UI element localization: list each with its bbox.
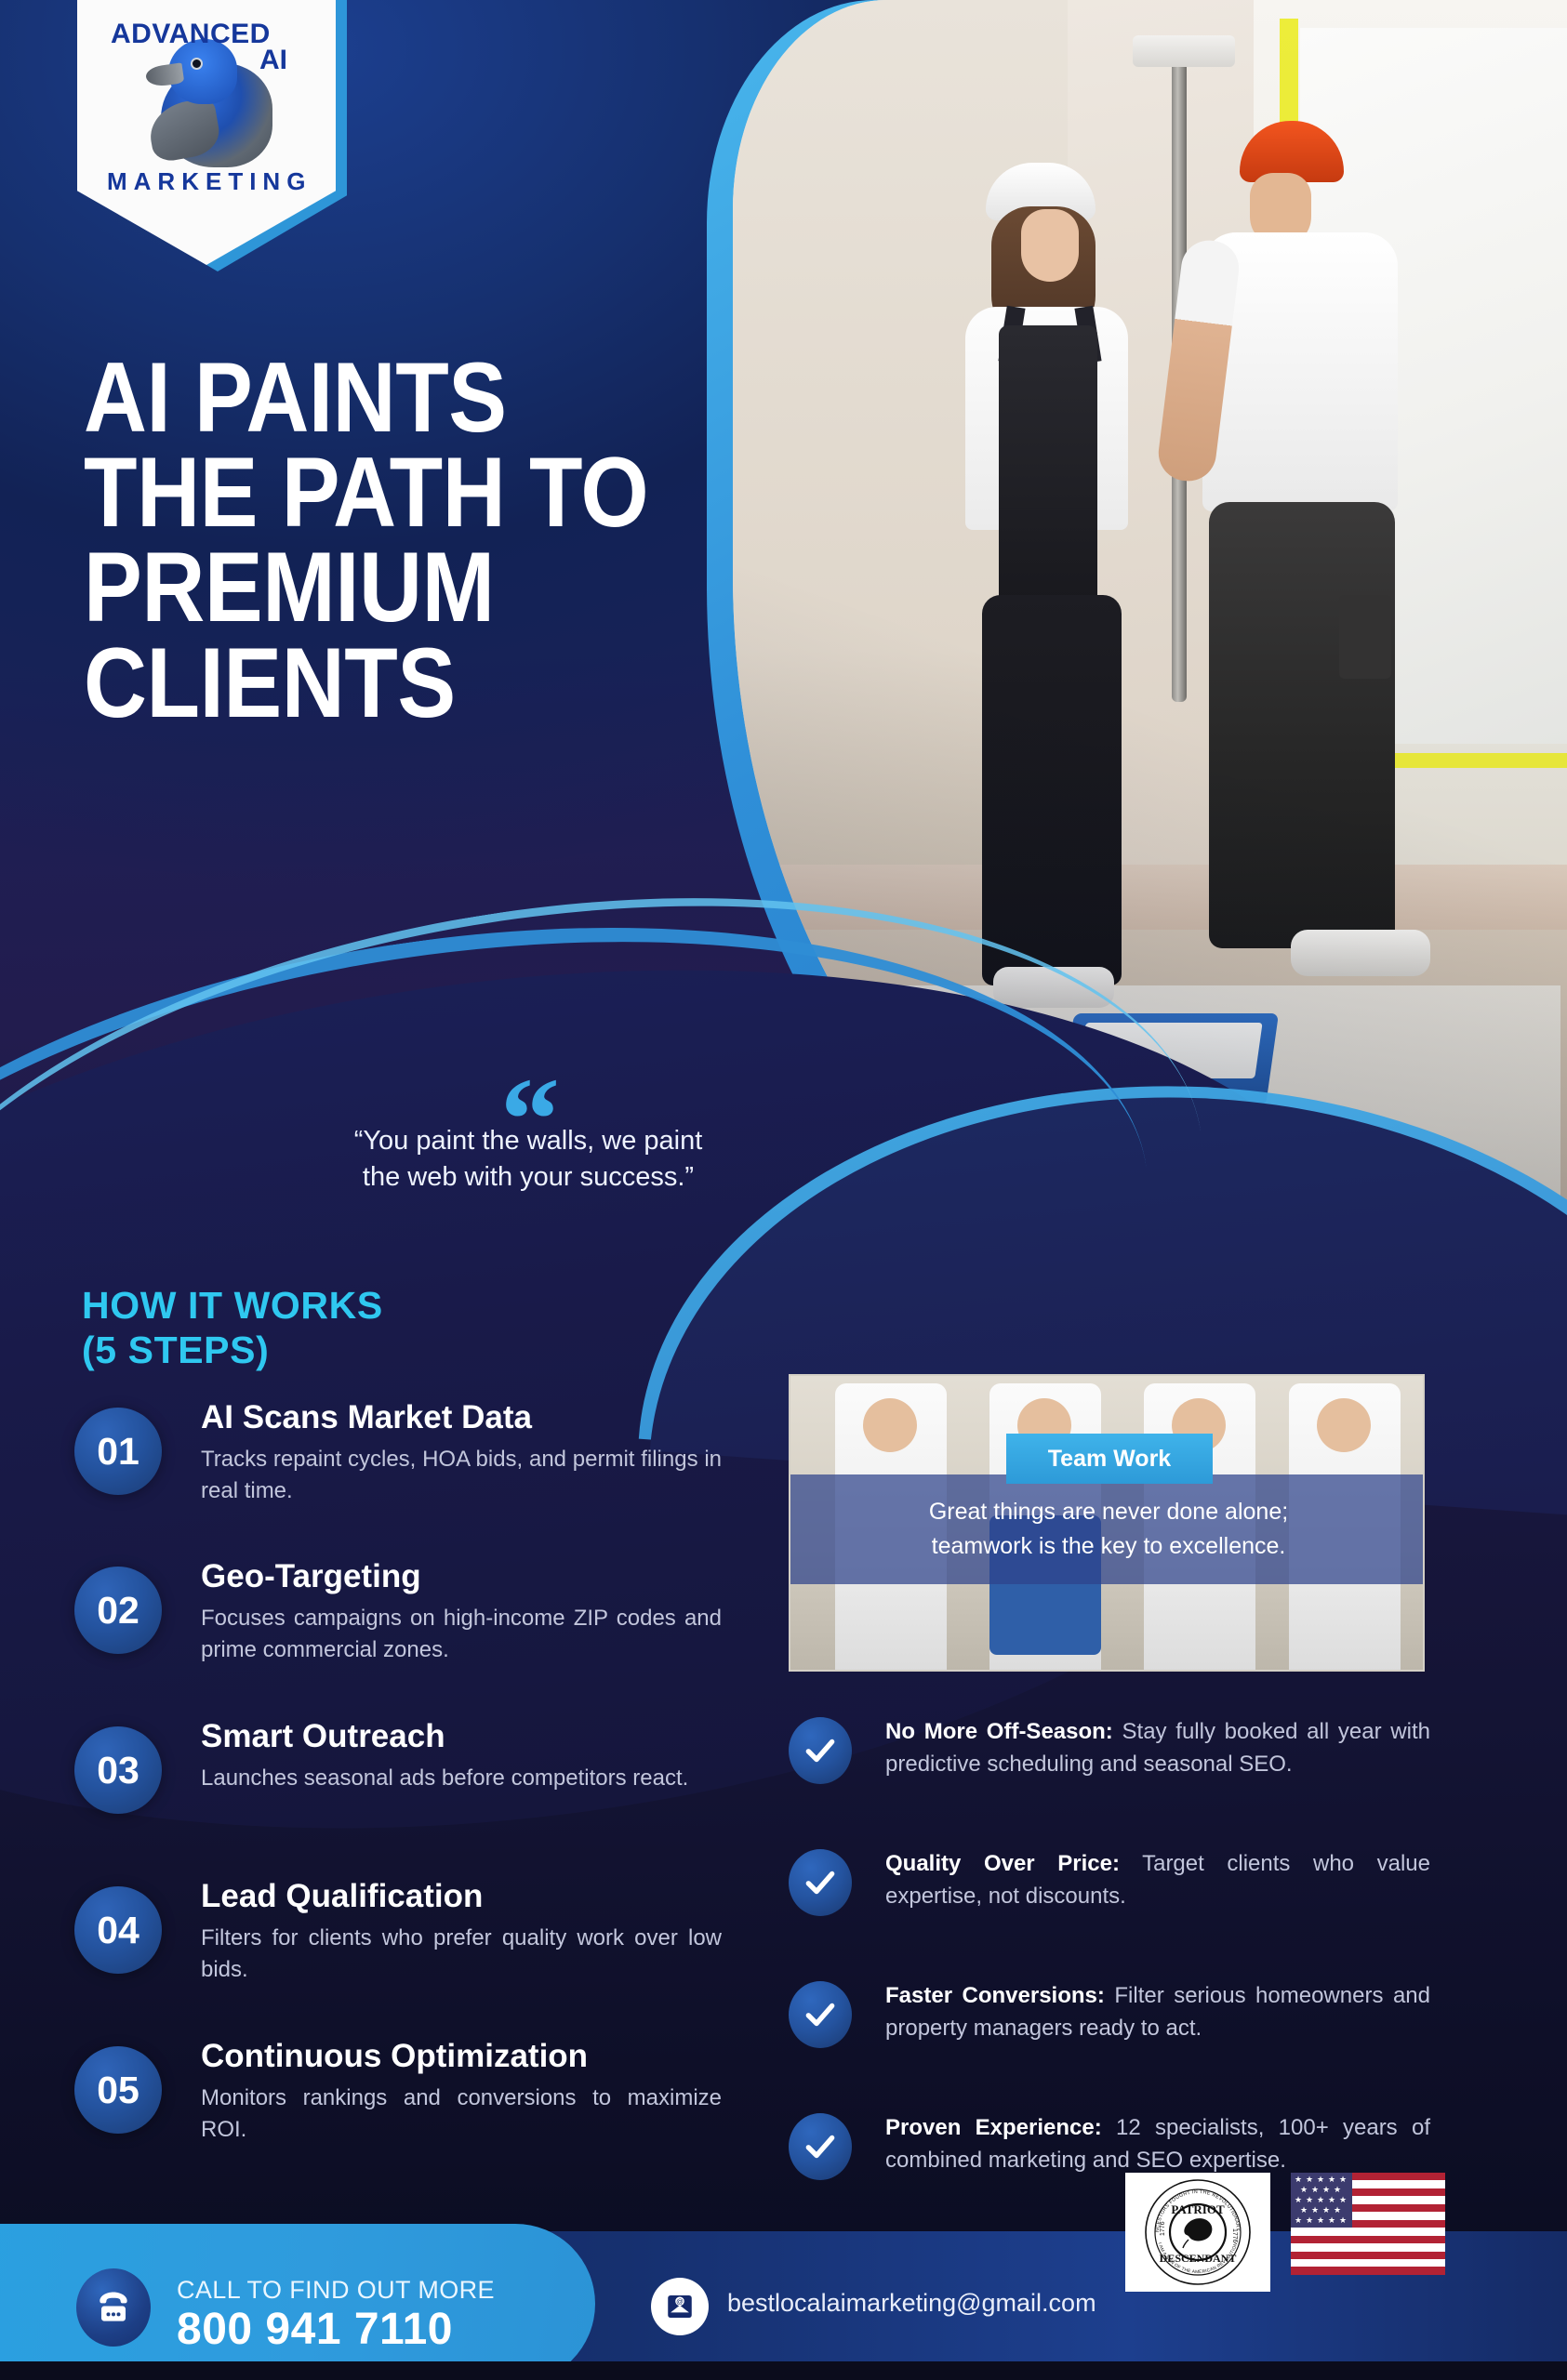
check-icon — [789, 1849, 852, 1916]
team-work-quote: Great things are never done alone; teamw… — [790, 1495, 1425, 1563]
footer-call-label: CALL TO FIND OUT MORE — [177, 2276, 495, 2305]
how-it-works-heading-line-1: HOW IT WORKS — [82, 1283, 383, 1328]
svg-text:1776: 1776 — [1160, 2221, 1166, 2236]
headline-line-3: PREMIUM — [84, 539, 640, 634]
step-number-badge: 01 — [74, 1408, 162, 1495]
benefit-item: Quality Over Price: Target clients who v… — [789, 1847, 1430, 1933]
credential-seals: ★ MY ANCESTORS FOUGHT IN THE REVOLUTIONA… — [1125, 2173, 1445, 2292]
team-quote-line-2: teamwork is the key to excellence. — [790, 1529, 1425, 1564]
benefit-item: Faster Conversions: Filter serious homeo… — [789, 1979, 1430, 2065]
team-work-card: Team Work Great things are never done al… — [789, 1374, 1425, 1672]
step-number-badge: 03 — [74, 1726, 162, 1814]
benefits-list: No More Off-Season: Stay fully booked al… — [789, 1715, 1430, 2243]
how-it-works-heading: HOW IT WORKS (5 STEPS) — [82, 1283, 383, 1373]
check-icon — [789, 1717, 852, 1784]
quote-line-1: “You paint the walls, we paint — [296, 1123, 761, 1159]
quote-line-2: the web with your success.” — [296, 1159, 761, 1196]
logo-text-advanced: ADVANCED — [111, 19, 271, 50]
benefit-title: Faster Conversions: — [885, 1983, 1105, 2008]
benefit-text: Quality Over Price: Target clients who v… — [885, 1847, 1430, 1912]
logo-badge: ADVANCED AI MARKETING — [77, 0, 336, 265]
benefit-title: Proven Experience: — [885, 2115, 1102, 2140]
team-quote-line-1: Great things are never done alone; — [790, 1495, 1425, 1529]
step-title: Lead Qualification — [201, 1878, 722, 1914]
headline-line-1: AI PAINTS — [84, 350, 640, 444]
step-number-badge: 05 — [74, 2046, 162, 2134]
step-title: AI Scans Market Data — [201, 1399, 722, 1435]
team-work-badge: Team Work — [1006, 1434, 1213, 1484]
step-description: Monitors rankings and conversions to max… — [201, 2082, 722, 2146]
benefit-text: No More Off-Season: Stay fully booked al… — [885, 1715, 1430, 1780]
step-content: AI Scans Market Data Tracks repaint cycl… — [201, 1399, 722, 1507]
step-content: Smart Outreach Launches seasonal ads bef… — [201, 1718, 722, 1794]
footer-email[interactable]: bestlocalaimarketing@gmail.com — [727, 2289, 1096, 2318]
logo-text-ai: AI — [259, 45, 287, 76]
benefit-item: No More Off-Season: Stay fully booked al… — [789, 1715, 1430, 1801]
step-content: Continuous Optimization Monitors ranking… — [201, 2038, 722, 2146]
brand-logo[interactable]: ADVANCED AI MARKETING — [77, 0, 336, 279]
footer-bottom-strip — [0, 2361, 1567, 2380]
team-person-head — [863, 1398, 917, 1452]
us-flag-icon: ★★ ★★ ★ ★★ ★★ ★★ ★★ ★ ★★ ★★ ★★ ★★ ★ — [1291, 2173, 1445, 2275]
step-description: Filters for clients who prefer quality w… — [201, 1923, 722, 1986]
logo-text-marketing: MARKETING — [107, 167, 312, 196]
telephone-icon — [76, 2268, 151, 2347]
svg-text:1776: 1776 — [1231, 2228, 1238, 2243]
step-content: Lead Qualification Filters for clients w… — [201, 1878, 722, 1986]
step-number-badge: 04 — [74, 1886, 162, 1974]
footer-phone-number[interactable]: 800 941 7110 — [177, 2304, 453, 2355]
tagline-quote: “You paint the walls, we paint the web w… — [296, 1123, 761, 1196]
benefit-text: Faster Conversions: Filter serious homeo… — [885, 1979, 1430, 2044]
headline-line-2: THE PATH TO — [84, 444, 640, 539]
poster-canvas: ADVANCED AI MARKETING AI PAINTS THE PATH… — [0, 0, 1567, 2380]
step-content: Geo-Targeting Focuses campaigns on high-… — [201, 1558, 722, 1666]
step-title: Geo-Targeting — [201, 1558, 722, 1594]
check-icon — [789, 1981, 852, 2048]
step-description: Tracks repaint cycles, HOA bids, and per… — [201, 1444, 722, 1507]
step-description: Launches seasonal ads before competitors… — [201, 1763, 722, 1794]
benefit-title: No More Off-Season: — [885, 1719, 1113, 1744]
svg-text:@: @ — [676, 2297, 684, 2306]
step-description: Focuses campaigns on high-income ZIP cod… — [201, 1603, 722, 1666]
team-person-head — [1317, 1398, 1371, 1452]
page-title: AI PAINTS THE PATH TO PREMIUM CLIENTS — [84, 350, 640, 730]
svg-text:PATRIOT: PATRIOT — [1171, 2202, 1225, 2216]
benefit-text: Proven Experience: 12 specialists, 100+ … — [885, 2111, 1430, 2176]
email-icon: @ — [651, 2278, 709, 2335]
step-number-badge: 02 — [74, 1567, 162, 1654]
benefit-title: Quality Over Price: — [885, 1851, 1120, 1876]
svg-text:DESCENDANT: DESCENDANT — [1160, 2252, 1237, 2265]
step-title: Smart Outreach — [201, 1718, 722, 1754]
patriot-descendant-seal-icon: ★ MY ANCESTORS FOUGHT IN THE REVOLUTIONA… — [1125, 2173, 1270, 2292]
step-title: Continuous Optimization — [201, 2038, 722, 2074]
check-icon — [789, 2113, 852, 2180]
how-it-works-heading-line-2: (5 STEPS) — [82, 1328, 383, 1372]
headline-line-4: CLIENTS — [84, 635, 640, 730]
